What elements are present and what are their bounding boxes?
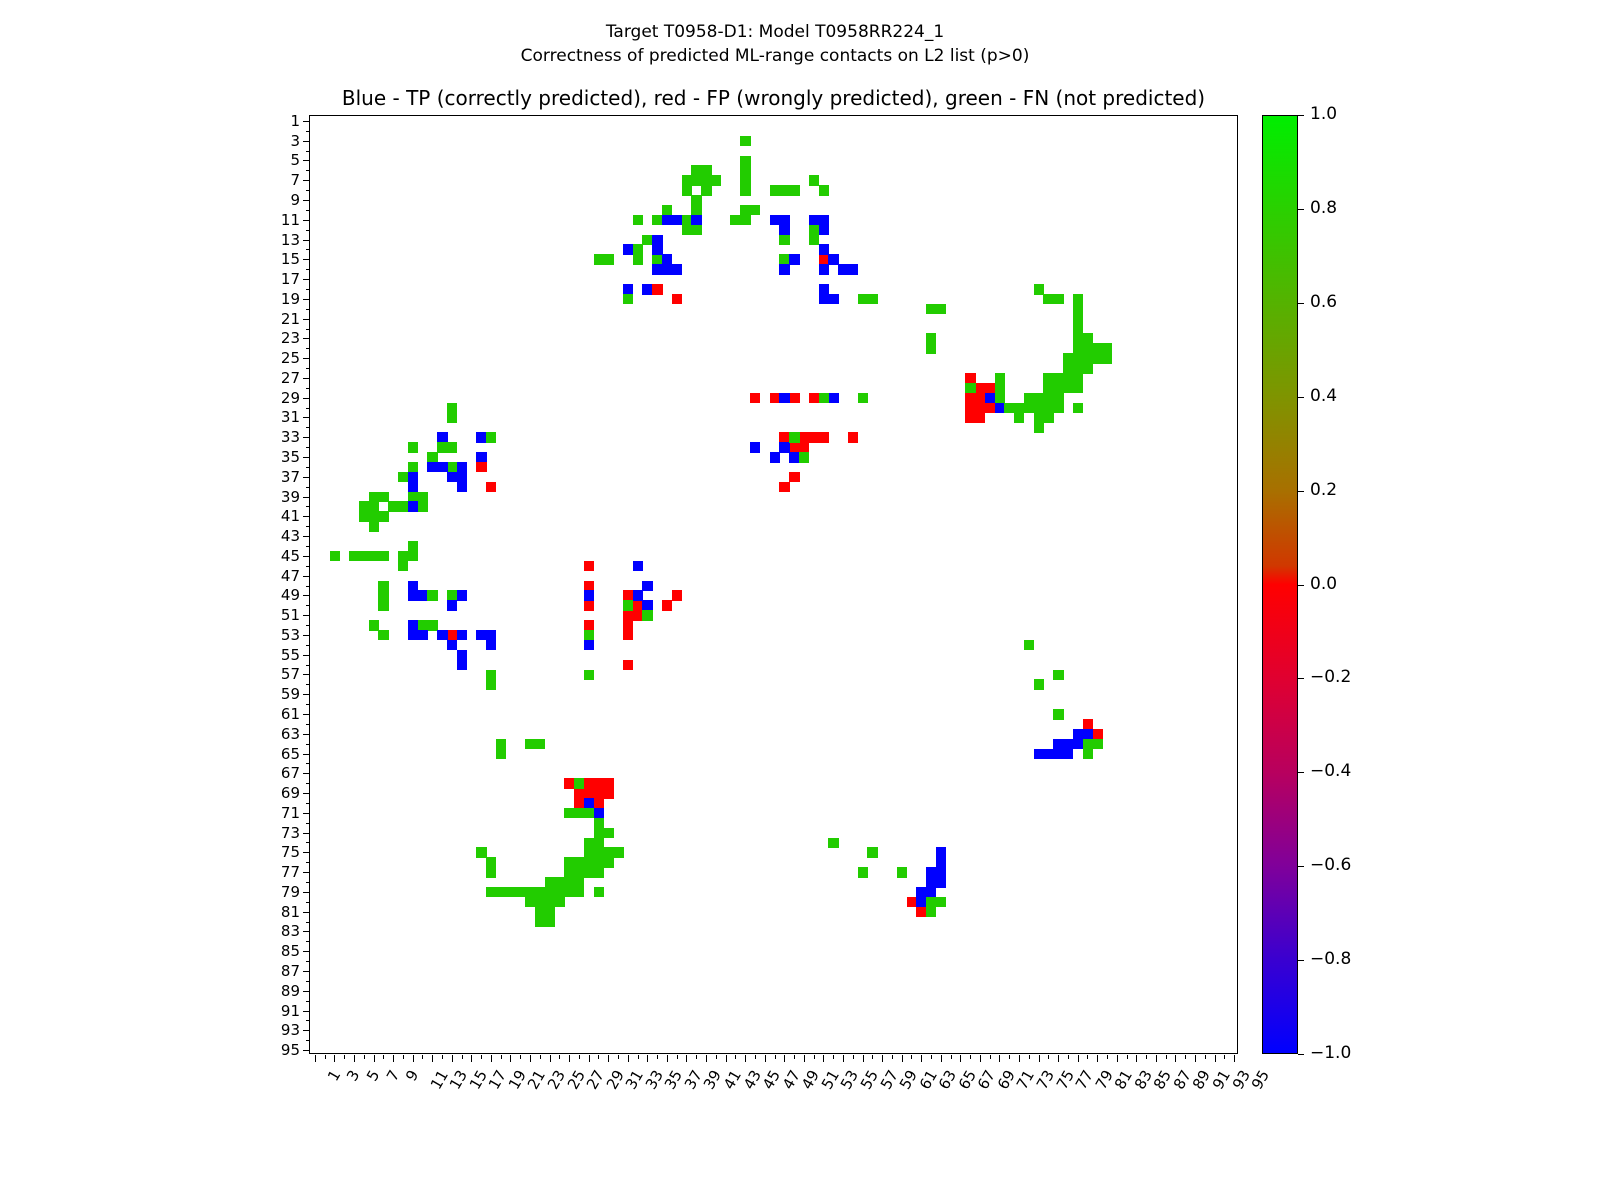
contact-cell bbox=[584, 590, 594, 600]
y-tick-major bbox=[303, 536, 310, 537]
y-tick-major bbox=[303, 378, 310, 379]
x-tick-major bbox=[1234, 1055, 1235, 1062]
contact-cell bbox=[926, 887, 936, 897]
x-tick-minor bbox=[1029, 1055, 1030, 1059]
contact-cell bbox=[809, 175, 819, 185]
y-tick-label: 53 bbox=[281, 628, 300, 643]
contact-cell bbox=[652, 244, 662, 254]
contact-cell bbox=[995, 383, 1005, 393]
contact-cell bbox=[819, 244, 829, 254]
x-tick-minor bbox=[735, 1055, 736, 1059]
contact-cell bbox=[691, 205, 701, 215]
x-tick-minor bbox=[892, 1055, 893, 1059]
contact-cell bbox=[369, 501, 379, 511]
contact-cell bbox=[457, 630, 467, 640]
contact-cell bbox=[995, 393, 1005, 403]
y-tick-label: 41 bbox=[281, 509, 300, 524]
y-tick-label: 49 bbox=[281, 588, 300, 603]
contact-cell bbox=[427, 590, 437, 600]
y-tick-major bbox=[303, 338, 310, 339]
y-tick-minor bbox=[306, 289, 310, 290]
y-tick-minor bbox=[306, 981, 310, 982]
colorbar-tick bbox=[1298, 303, 1304, 304]
contact-cell bbox=[1083, 343, 1093, 353]
y-tick-label: 13 bbox=[281, 233, 300, 248]
x-tick-label: 9 bbox=[404, 1068, 422, 1084]
contact-cell bbox=[642, 581, 652, 591]
contact-cell bbox=[437, 442, 447, 452]
contact-cell bbox=[594, 798, 604, 808]
contact-cell bbox=[819, 264, 829, 274]
x-tick-major bbox=[882, 1055, 883, 1062]
contact-cell bbox=[965, 383, 975, 393]
contact-cell bbox=[457, 660, 467, 670]
y-tick-minor bbox=[306, 961, 310, 962]
colorbar-tick bbox=[1298, 960, 1304, 961]
contact-cell bbox=[750, 442, 760, 452]
contact-cell bbox=[672, 590, 682, 600]
contact-cell bbox=[642, 600, 652, 610]
y-tick-minor bbox=[306, 566, 310, 567]
y-tick-minor bbox=[306, 506, 310, 507]
y-tick-label: 5 bbox=[290, 153, 300, 168]
contact-cell bbox=[1034, 679, 1044, 689]
contact-cell bbox=[1102, 353, 1112, 363]
contact-cell bbox=[1073, 314, 1083, 324]
contact-cell bbox=[486, 482, 496, 492]
contact-cell bbox=[1053, 709, 1063, 719]
x-tick-major bbox=[1117, 1055, 1118, 1062]
y-tick-major bbox=[303, 635, 310, 636]
y-tick-minor bbox=[306, 131, 310, 132]
contact-cell bbox=[486, 867, 496, 877]
colorbar-tick-label: 0.2 bbox=[1310, 482, 1337, 499]
y-tick-minor bbox=[306, 842, 310, 843]
colorbar-tick-label: 0.6 bbox=[1310, 294, 1337, 311]
contact-cell bbox=[359, 511, 369, 521]
y-tick-label: 21 bbox=[281, 312, 300, 327]
colorbar-tick bbox=[1298, 491, 1304, 492]
contact-cell bbox=[779, 442, 789, 452]
x-tick-major bbox=[784, 1055, 785, 1062]
contact-cell bbox=[408, 581, 418, 591]
suptitle-line-2: Correctness of predicted ML-range contac… bbox=[0, 44, 1550, 68]
y-tick-label: 59 bbox=[281, 687, 300, 702]
y-tick-minor bbox=[306, 684, 310, 685]
contact-cell bbox=[447, 600, 457, 610]
contact-cell bbox=[819, 294, 829, 304]
x-tick-major bbox=[1058, 1055, 1059, 1062]
x-tick-minor bbox=[794, 1055, 795, 1059]
y-tick-major bbox=[303, 734, 310, 735]
y-tick-major bbox=[303, 912, 310, 913]
y-tick-major bbox=[303, 833, 310, 834]
x-tick-major bbox=[608, 1055, 609, 1062]
contact-cell bbox=[926, 343, 936, 353]
y-tick-label: 1 bbox=[290, 114, 300, 129]
x-tick-minor bbox=[1087, 1055, 1088, 1059]
x-tick-major bbox=[413, 1055, 414, 1062]
y-tick-minor bbox=[306, 763, 310, 764]
contact-cell bbox=[691, 175, 701, 185]
contact-cell bbox=[398, 501, 408, 511]
x-tick-minor bbox=[1048, 1055, 1049, 1059]
colorbar-tick-label: −0.8 bbox=[1310, 951, 1351, 968]
colorbar-tick-label: 0.4 bbox=[1310, 388, 1337, 405]
y-tick-minor bbox=[306, 329, 310, 330]
contact-cell bbox=[779, 482, 789, 492]
contact-cell bbox=[369, 521, 379, 531]
x-tick-minor bbox=[422, 1055, 423, 1059]
contact-cell bbox=[603, 254, 613, 264]
contact-cell bbox=[740, 185, 750, 195]
x-tick-minor bbox=[833, 1055, 834, 1059]
x-tick-major bbox=[354, 1055, 355, 1062]
contact-cell bbox=[623, 630, 633, 640]
y-tick-label: 95 bbox=[281, 1043, 300, 1058]
contact-cell bbox=[750, 393, 760, 403]
y-tick-major bbox=[303, 931, 310, 932]
x-tick-minor bbox=[442, 1055, 443, 1059]
contact-cell bbox=[1083, 363, 1093, 373]
x-tick-minor bbox=[911, 1055, 912, 1059]
contact-cell bbox=[858, 393, 868, 403]
y-tick-major bbox=[303, 1050, 310, 1051]
contact-cell bbox=[1092, 739, 1102, 749]
y-tick-label: 39 bbox=[281, 490, 300, 505]
contact-cell bbox=[486, 630, 496, 640]
y-tick-label: 81 bbox=[281, 905, 300, 920]
contact-cell bbox=[642, 610, 652, 620]
x-tick-major bbox=[1175, 1055, 1176, 1062]
x-tick-major bbox=[510, 1055, 511, 1062]
x-tick-minor bbox=[755, 1055, 756, 1059]
contact-cell bbox=[359, 551, 369, 561]
y-tick-label: 93 bbox=[281, 1023, 300, 1038]
contact-cell bbox=[936, 897, 946, 907]
x-tick-minor bbox=[814, 1055, 815, 1059]
contact-cell bbox=[437, 432, 447, 442]
contact-cell bbox=[398, 551, 408, 561]
contact-cell bbox=[378, 630, 388, 640]
x-tick-minor bbox=[1146, 1055, 1147, 1059]
y-tick-label: 71 bbox=[281, 806, 300, 821]
y-tick-label: 73 bbox=[281, 826, 300, 841]
y-tick-minor bbox=[306, 230, 310, 231]
contact-cell bbox=[1073, 333, 1083, 343]
contact-cell bbox=[926, 907, 936, 917]
contact-cell bbox=[378, 581, 388, 591]
y-tick-minor bbox=[306, 427, 310, 428]
y-tick-major bbox=[303, 674, 310, 675]
contact-cell bbox=[476, 462, 486, 472]
colorbar-tick bbox=[1298, 397, 1304, 398]
y-tick-major bbox=[303, 299, 310, 300]
y-tick-label: 57 bbox=[281, 667, 300, 682]
contact-cell bbox=[486, 640, 496, 650]
contact-cell bbox=[779, 264, 789, 274]
y-tick-label: 75 bbox=[281, 845, 300, 860]
y-tick-major bbox=[303, 160, 310, 161]
y-tick-major bbox=[303, 417, 310, 418]
y-tick-major bbox=[303, 595, 310, 596]
y-tick-label: 55 bbox=[281, 648, 300, 663]
contact-cell bbox=[789, 185, 799, 195]
colorbar-tick bbox=[1298, 115, 1304, 116]
x-tick-minor bbox=[872, 1055, 873, 1059]
x-tick-minor bbox=[716, 1055, 717, 1059]
y-tick-label: 23 bbox=[281, 331, 300, 346]
y-tick-major bbox=[303, 319, 310, 320]
contact-cell bbox=[936, 847, 946, 857]
y-tick-minor bbox=[306, 269, 310, 270]
suptitle-line-1: Target T0958-D1: Model T0958RR224_1 bbox=[0, 20, 1550, 44]
x-tick-major bbox=[804, 1055, 805, 1062]
contact-cell bbox=[476, 847, 486, 857]
contact-cell bbox=[613, 847, 623, 857]
y-tick-minor bbox=[306, 645, 310, 646]
y-tick-major bbox=[303, 714, 310, 715]
contact-cell bbox=[594, 887, 604, 897]
y-tick-major bbox=[303, 991, 310, 992]
contact-cell bbox=[486, 670, 496, 680]
x-tick-major bbox=[1078, 1055, 1079, 1062]
x-tick-minor bbox=[696, 1055, 697, 1059]
x-tick-major bbox=[471, 1055, 472, 1062]
colorbar-tick-label: 1.0 bbox=[1310, 106, 1337, 123]
x-tick-minor bbox=[481, 1055, 482, 1059]
contact-cell bbox=[378, 551, 388, 561]
x-tick-major bbox=[1136, 1055, 1137, 1062]
contact-cell bbox=[1083, 333, 1093, 343]
contact-cell bbox=[486, 679, 496, 689]
x-tick-major bbox=[393, 1055, 394, 1062]
y-tick-label: 11 bbox=[281, 213, 300, 228]
x-tick-minor bbox=[403, 1055, 404, 1059]
x-tick-minor bbox=[1068, 1055, 1069, 1059]
y-tick-label: 79 bbox=[281, 885, 300, 900]
contact-cell bbox=[672, 294, 682, 304]
colorbar-tick-label: −0.6 bbox=[1310, 857, 1351, 874]
contact-cell bbox=[1073, 383, 1083, 393]
y-tick-label: 69 bbox=[281, 786, 300, 801]
contact-cell bbox=[633, 244, 643, 254]
contact-cell bbox=[828, 294, 838, 304]
contact-map-cells bbox=[310, 116, 1237, 1053]
contact-cell bbox=[867, 847, 877, 857]
x-tick-minor bbox=[1009, 1055, 1010, 1059]
y-tick-label: 65 bbox=[281, 747, 300, 762]
y-tick-major bbox=[303, 398, 310, 399]
y-tick-minor bbox=[306, 586, 310, 587]
contact-cell bbox=[1063, 749, 1073, 759]
x-tick-minor bbox=[540, 1055, 541, 1059]
contact-cell bbox=[1083, 729, 1093, 739]
contact-cell bbox=[1053, 739, 1063, 749]
contact-cell bbox=[457, 462, 467, 472]
contact-cell bbox=[770, 452, 780, 462]
contact-cell bbox=[691, 225, 701, 235]
y-tick-minor bbox=[306, 170, 310, 171]
y-tick-major bbox=[303, 497, 310, 498]
contact-cell bbox=[701, 185, 711, 195]
x-tick-minor bbox=[775, 1055, 776, 1059]
contact-cell bbox=[1014, 413, 1024, 423]
contact-cell bbox=[770, 215, 780, 225]
contact-cell bbox=[457, 482, 467, 492]
colorbar-tick bbox=[1298, 866, 1304, 867]
contact-cell bbox=[789, 393, 799, 403]
contact-cell bbox=[819, 432, 829, 442]
y-tick-minor bbox=[306, 862, 310, 863]
contact-cell bbox=[779, 225, 789, 235]
contact-cell bbox=[447, 442, 457, 452]
x-tick-major bbox=[726, 1055, 727, 1062]
contact-cell bbox=[789, 432, 799, 442]
y-tick-major bbox=[303, 437, 310, 438]
y-tick-minor bbox=[306, 783, 310, 784]
y-tick-label: 17 bbox=[281, 272, 300, 287]
contact-cell bbox=[457, 650, 467, 660]
contact-cell bbox=[408, 551, 418, 561]
y-tick-label: 63 bbox=[281, 727, 300, 742]
x-tick-minor bbox=[364, 1055, 365, 1059]
contact-cell bbox=[486, 432, 496, 442]
contact-cell bbox=[447, 413, 457, 423]
figure-suptitle: Target T0958-D1: Model T0958RR224_1 Corr… bbox=[0, 20, 1550, 68]
x-tick-minor bbox=[1185, 1055, 1186, 1059]
contact-cell bbox=[926, 867, 936, 877]
contact-cell bbox=[623, 660, 633, 670]
y-tick-major bbox=[303, 892, 310, 893]
contact-cell bbox=[828, 838, 838, 848]
contact-cell bbox=[936, 867, 946, 877]
x-tick-minor bbox=[657, 1055, 658, 1059]
colorbar-tick-label: −0.4 bbox=[1310, 763, 1351, 780]
y-tick-minor bbox=[306, 190, 310, 191]
contact-cell bbox=[437, 630, 447, 640]
x-tick-minor bbox=[325, 1055, 326, 1059]
contact-cell bbox=[828, 393, 838, 403]
contact-cell bbox=[1043, 413, 1053, 423]
y-tick-minor bbox=[306, 447, 310, 448]
y-tick-minor bbox=[306, 546, 310, 547]
y-tick-major bbox=[303, 852, 310, 853]
y-tick-minor bbox=[306, 665, 310, 666]
y-tick-major bbox=[303, 971, 310, 972]
y-tick-major bbox=[303, 615, 310, 616]
x-tick-minor bbox=[1205, 1055, 1206, 1059]
x-tick-major bbox=[1215, 1055, 1216, 1062]
y-tick-major bbox=[303, 576, 310, 577]
contact-cell bbox=[1083, 719, 1093, 729]
contact-cell bbox=[701, 165, 711, 175]
y-tick-minor bbox=[306, 368, 310, 369]
colorbar-tick-label: −1.0 bbox=[1310, 1045, 1351, 1062]
contact-cell bbox=[457, 590, 467, 600]
y-tick-major bbox=[303, 872, 310, 873]
y-tick-label: 33 bbox=[281, 430, 300, 445]
contact-cell bbox=[965, 393, 975, 403]
y-tick-label: 7 bbox=[290, 173, 300, 188]
y-tick-major bbox=[303, 773, 310, 774]
contact-cell bbox=[1073, 294, 1083, 304]
y-tick-minor bbox=[306, 605, 310, 606]
x-tick-major bbox=[530, 1055, 531, 1062]
y-tick-minor bbox=[306, 724, 310, 725]
contact-cell bbox=[535, 739, 545, 749]
x-tick-major bbox=[706, 1055, 707, 1062]
contact-map-plot-area[interactable]: 1357911131517192123252729313335373941434… bbox=[309, 115, 1238, 1054]
x-tick-major bbox=[569, 1055, 570, 1062]
y-tick-label: 67 bbox=[281, 766, 300, 781]
x-tick-minor bbox=[638, 1055, 639, 1059]
y-tick-minor bbox=[306, 941, 310, 942]
contact-cell bbox=[594, 818, 604, 828]
x-tick-major bbox=[667, 1055, 668, 1062]
x-tick-minor bbox=[1166, 1055, 1167, 1059]
contact-cell bbox=[1092, 729, 1102, 739]
contact-cell bbox=[819, 225, 829, 235]
x-tick-major bbox=[1039, 1055, 1040, 1062]
contact-cell bbox=[652, 284, 662, 294]
y-tick-label: 91 bbox=[281, 1004, 300, 1019]
colorbar-tick bbox=[1298, 1054, 1304, 1055]
contact-cell bbox=[398, 561, 408, 571]
y-tick-minor bbox=[306, 882, 310, 883]
y-tick-label: 77 bbox=[281, 865, 300, 880]
contact-cell bbox=[819, 215, 829, 225]
contact-cell bbox=[584, 670, 594, 680]
contact-cell bbox=[623, 294, 633, 304]
contact-cell bbox=[1102, 343, 1112, 353]
contact-cell bbox=[408, 442, 418, 452]
y-tick-label: 47 bbox=[281, 569, 300, 584]
y-tick-label: 29 bbox=[281, 391, 300, 406]
y-tick-major bbox=[303, 754, 310, 755]
contact-cell bbox=[1073, 304, 1083, 314]
y-tick-major bbox=[303, 200, 310, 201]
x-tick-minor bbox=[1107, 1055, 1108, 1059]
contact-cell bbox=[496, 749, 506, 759]
contact-cell bbox=[740, 175, 750, 185]
y-tick-label: 45 bbox=[281, 549, 300, 564]
x-tick-major bbox=[452, 1055, 453, 1062]
axes-title-color-legend: Blue - TP (correctly predicted), red - F… bbox=[309, 86, 1238, 110]
contact-cell bbox=[369, 620, 379, 630]
contact-cell bbox=[799, 452, 809, 462]
contact-cell bbox=[897, 867, 907, 877]
contact-cell bbox=[858, 867, 868, 877]
y-tick-label: 43 bbox=[281, 529, 300, 544]
contact-cell bbox=[740, 215, 750, 225]
y-tick-major bbox=[303, 240, 310, 241]
x-tick-major bbox=[647, 1055, 648, 1062]
contact-cell bbox=[1083, 749, 1093, 759]
y-tick-minor bbox=[306, 151, 310, 152]
contact-cell bbox=[1053, 383, 1063, 393]
contact-cell bbox=[447, 472, 457, 482]
contact-cell bbox=[1024, 640, 1034, 650]
colorbar[interactable]: 1.00.80.60.40.20.0−0.2−0.4−0.6−0.8−1.0 bbox=[1262, 115, 1298, 1054]
y-tick-minor bbox=[306, 823, 310, 824]
y-tick-minor bbox=[306, 1040, 310, 1041]
contact-cell bbox=[437, 462, 447, 472]
contact-cell bbox=[936, 877, 946, 887]
contact-cell bbox=[867, 294, 877, 304]
contact-cell bbox=[779, 215, 789, 225]
y-tick-minor bbox=[306, 1001, 310, 1002]
